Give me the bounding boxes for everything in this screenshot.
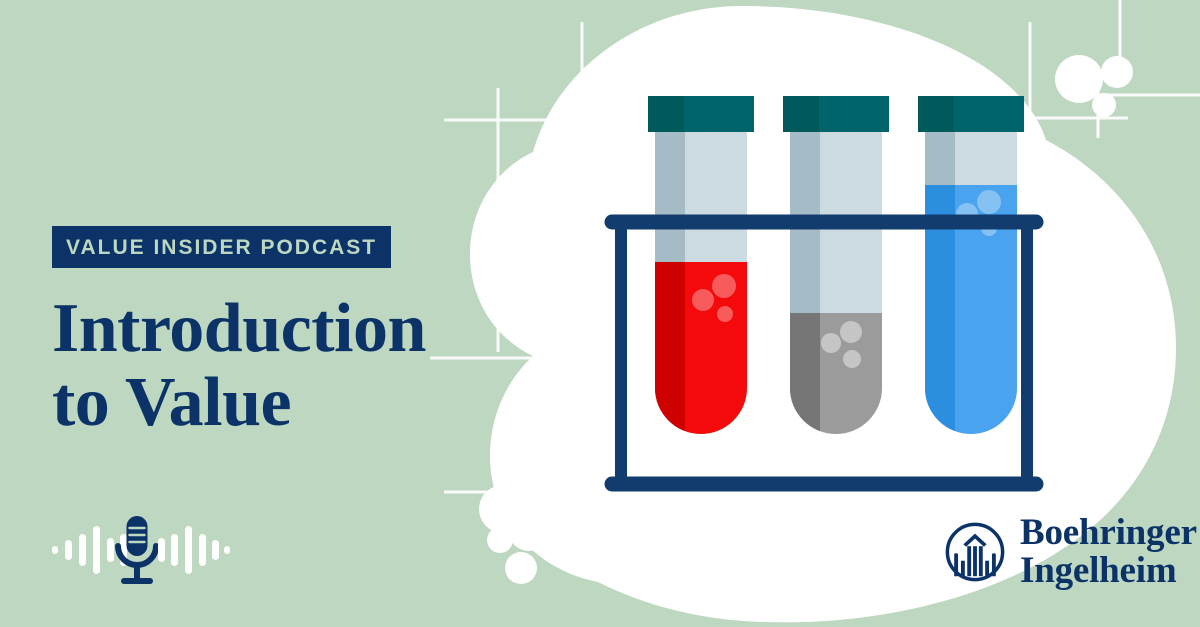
waveform-bar [185, 526, 192, 574]
liquid-bubble [821, 333, 841, 353]
test-tube-gray [783, 96, 889, 448]
tube-cap-shadow [918, 96, 954, 132]
logo-column [967, 546, 971, 576]
logo-roof-chevron [963, 534, 986, 547]
tube-liquid-shadow [655, 262, 685, 448]
mic-stem [134, 564, 140, 578]
waveform-bar [65, 540, 72, 560]
brand-logo-wordmark: Boehringer Ingelheim [1020, 514, 1197, 589]
waveform-bar [79, 534, 86, 566]
tube-cap-shadow [783, 96, 819, 132]
logo-column-outer-right [992, 553, 996, 576]
waveform-bar [158, 538, 165, 562]
liquid-bubble [977, 190, 1001, 214]
page-title-line-1: Introduction [52, 292, 472, 366]
logo-column [985, 561, 989, 577]
waveform-bar [199, 534, 206, 566]
page-title: Introduction to Value [52, 292, 472, 440]
test-tube-blue [918, 96, 1024, 448]
waveform-bar [93, 526, 100, 574]
headline-block: VALUE INSIDER PODCAST Introduction to Va… [52, 226, 472, 440]
brand-name-line-1: Boehringer [1020, 514, 1197, 552]
waveform-bar [52, 546, 58, 554]
waveform-bar [107, 538, 114, 562]
liquid-bubble [843, 350, 861, 368]
logo-columns [954, 534, 996, 577]
tube-liquid-shadow [790, 313, 820, 448]
podcast-waveform-mark [44, 508, 230, 592]
liquid-bubble [712, 274, 736, 298]
brand-name-line-2: Ingelheim [1020, 552, 1197, 590]
logo-column [979, 546, 983, 576]
audio-waveform-icon [158, 526, 230, 574]
logo-column-outer-left [954, 553, 958, 576]
mic-base [121, 578, 153, 584]
logo-column [973, 546, 977, 576]
brand-logo: Boehringer Ingelheim [944, 512, 1160, 592]
waveform-bar [212, 540, 219, 560]
page-title-line-2: to Value [52, 366, 472, 440]
test-tube-red [648, 96, 754, 448]
liquid-bubble [692, 289, 714, 311]
liquid-bubble [840, 321, 862, 343]
waveform-bar [224, 546, 230, 554]
liquid-bubble [717, 306, 733, 322]
eyebrow-badge: VALUE INSIDER PODCAST [52, 226, 391, 268]
logo-column [961, 561, 965, 577]
waveform-bar [171, 534, 178, 566]
tube-cap-shadow [648, 96, 684, 132]
podcast-cover-graphic: VALUE INSIDER PODCAST Introduction to Va… [0, 0, 1200, 627]
boehringer-ingelheim-logo-mark [944, 521, 1006, 583]
